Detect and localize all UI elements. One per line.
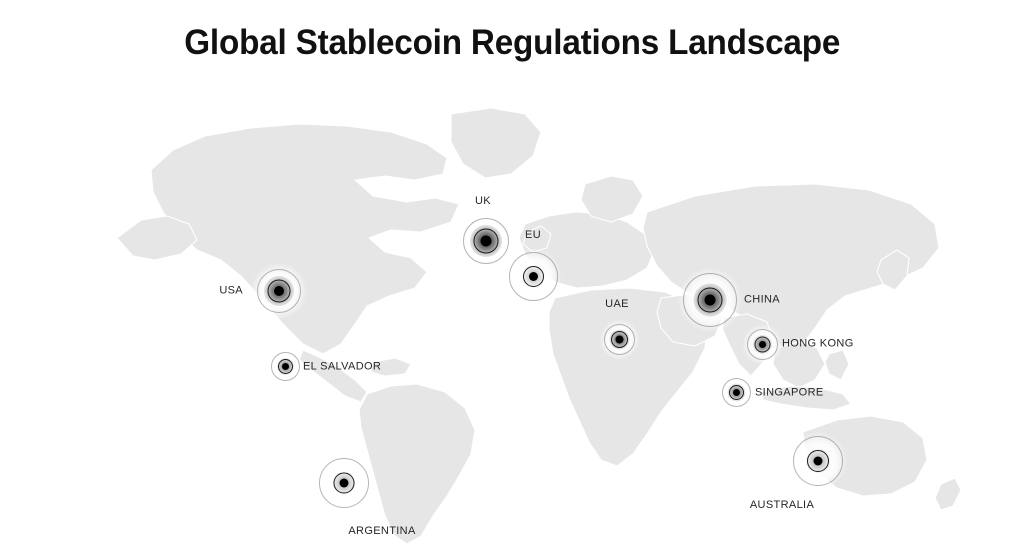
marker-center-dot-icon	[705, 295, 716, 306]
map-marker-label-hong-kong: HONG KONG	[782, 339, 854, 350]
marker-center-dot-icon	[274, 286, 284, 296]
land-scandinavia	[581, 176, 643, 222]
marker-center-dot-icon	[529, 272, 538, 281]
marker-center-dot-icon	[481, 236, 492, 247]
map-marker-usa[interactable]	[257, 269, 301, 313]
map-marker-label-argentina: ARGENTINA	[348, 526, 415, 537]
land-greenland	[451, 108, 541, 178]
map-marker-label-el-salvador: EL SALVADOR	[303, 362, 381, 373]
title-bar: Global Stablecoin Regulations Landscape	[0, 0, 1024, 86]
map-marker-label-australia: AUSTRALIA	[750, 500, 814, 511]
marker-center-dot-icon	[814, 457, 823, 466]
map-marker-label-singapore: SINGAPORE	[755, 388, 824, 399]
map-marker-singapore[interactable]	[722, 378, 751, 407]
map-marker-label-usa: USA	[219, 286, 243, 297]
land-philippines	[825, 350, 849, 380]
map-marker-label-eu: EU	[525, 230, 541, 241]
land-central-america	[299, 350, 367, 402]
land-north-america	[151, 124, 459, 354]
map-marker-label-uk: UK	[475, 196, 491, 207]
map-marker-label-uae: UAE	[605, 299, 629, 310]
marker-center-dot-icon	[615, 335, 623, 343]
land-alaska	[117, 216, 197, 260]
map-marker-china[interactable]	[683, 273, 737, 327]
map-marker-uk[interactable]	[463, 218, 509, 264]
marker-center-dot-icon	[282, 363, 289, 370]
map-marker-label-china: CHINA	[744, 295, 780, 306]
map-marker-uae[interactable]	[604, 324, 635, 355]
land-new-zealand	[935, 478, 961, 510]
slide-canvas: Global Stablecoin Regulations Landscape	[0, 0, 1024, 557]
map-marker-eu[interactable]	[509, 252, 558, 301]
page-title: Global Stablecoin Regulations Landscape	[184, 23, 840, 63]
marker-center-dot-icon	[340, 479, 349, 488]
world-map-container: USAEL SALVADORARGENTINAUKEUUAECHINAHONG …	[0, 86, 1024, 557]
map-marker-australia[interactable]	[793, 436, 843, 486]
land-south-america	[359, 384, 475, 544]
marker-center-dot-icon	[733, 389, 740, 396]
marker-center-dot-icon	[759, 341, 766, 348]
map-marker-el-salvador[interactable]	[271, 352, 300, 381]
map-marker-hong-kong[interactable]	[747, 329, 778, 360]
map-marker-argentina[interactable]	[319, 458, 369, 508]
